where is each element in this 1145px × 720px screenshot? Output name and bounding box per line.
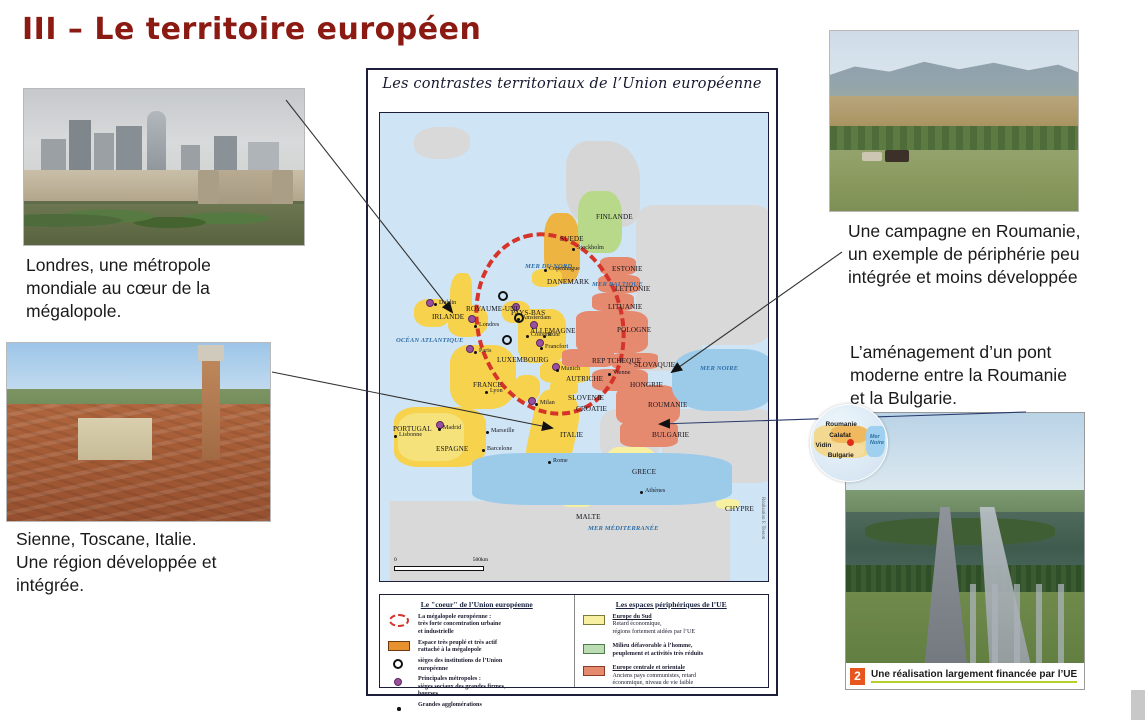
legend-item: La mégalopole européenne : très forte co… bbox=[386, 614, 568, 636]
map-city-dot bbox=[543, 335, 546, 338]
map-city-label: Munich bbox=[561, 366, 580, 372]
caption-london: Londres, une métropole mondiale au cœur … bbox=[26, 254, 326, 322]
river-island bbox=[865, 518, 1055, 546]
caption-pont: L’aménagement d’un pont moderne entre la… bbox=[850, 341, 1140, 409]
legend-item: sièges des institutions de l’Union europ… bbox=[386, 658, 568, 673]
map-title: Les contrastes territoriaux de l’Union e… bbox=[368, 76, 776, 92]
gherkin-tower bbox=[147, 111, 166, 173]
institution-bruxelles bbox=[498, 291, 508, 301]
horse-light bbox=[862, 152, 882, 161]
map-country-label: FINLANDE bbox=[596, 213, 633, 221]
page-title: III – Le territoire européen bbox=[22, 12, 481, 47]
iceland-shape bbox=[414, 127, 470, 159]
label-mer-noire: Mer Noire bbox=[870, 434, 884, 446]
map-city-label: Athènes bbox=[645, 488, 665, 494]
label-bulgarie: Bulgarie bbox=[828, 452, 854, 459]
map-country-label: BULGARIE bbox=[652, 431, 689, 439]
map-city-label: Paris bbox=[479, 348, 492, 354]
palazzo-pubblico bbox=[78, 418, 152, 461]
map-country-label: DANEMARK bbox=[547, 278, 589, 286]
map-credit: Réalisation F. Tesson bbox=[760, 497, 765, 539]
map-city-dot bbox=[517, 318, 520, 321]
metropole-francfort bbox=[536, 339, 544, 347]
photo-sienne-content bbox=[7, 343, 270, 521]
map-country-label: ESTONIE bbox=[612, 265, 643, 273]
inset-globe-map: Roumanie Calafat Vidin Bulgarie Mer Noir… bbox=[810, 404, 888, 482]
mediterranee-water bbox=[472, 453, 732, 505]
crop-field bbox=[830, 96, 1078, 128]
yellow-box-symbol-icon bbox=[581, 614, 607, 627]
map-city-label: Marseille bbox=[491, 428, 515, 434]
legend-item: Milieu défavorable à l’homme, peuplement… bbox=[581, 643, 763, 658]
map-city-dot bbox=[548, 461, 551, 464]
map-country-label: POLOGNE bbox=[617, 326, 651, 334]
legend-text: Espace très peuplé et très actif rattach… bbox=[418, 640, 497, 655]
legend-item: Principales métropoles : sièges sociaux … bbox=[386, 676, 568, 698]
map-city-dot bbox=[474, 325, 477, 328]
map-city-label: Ruhr bbox=[548, 332, 560, 338]
legend-heading-coeur: Le "coeur" de l’Union européenne bbox=[386, 600, 568, 609]
legend-text: Retard économique, régions fortement aid… bbox=[613, 621, 696, 636]
legend-item: Espace très peuplé et très actif rattach… bbox=[386, 640, 568, 655]
legend-column-coeur: Le "coeur" de l’Union européenne La méga… bbox=[380, 595, 575, 687]
legend-column-peripheries: Les espaces périphériques de l’UE Europe… bbox=[575, 595, 769, 687]
map-city-label: Rome bbox=[553, 458, 568, 464]
map-city-label: Vienne bbox=[613, 370, 631, 376]
map-city-label: Milan bbox=[540, 400, 555, 406]
legend-title: Europe centrale et orientale bbox=[613, 665, 697, 672]
caption-roumanie: Une campagne en Roumanie, un exemple de … bbox=[848, 220, 1138, 288]
shape-finlande bbox=[578, 191, 622, 253]
map-country-label: CROATIE bbox=[576, 405, 607, 413]
map-city-label: Stockholm bbox=[577, 245, 604, 251]
horse-dark bbox=[885, 150, 910, 163]
slide-root: III – Le territoire européen Londres, un… bbox=[0, 0, 1145, 720]
red-box-symbol-icon bbox=[581, 665, 607, 678]
legend-text: Anciens pays communistes, retard économi… bbox=[613, 673, 697, 688]
map-city-label: Madrid bbox=[443, 425, 461, 431]
map-city-dot bbox=[540, 347, 543, 350]
legend-item: Europe du Sud Retard économique, régions… bbox=[581, 614, 763, 636]
legend-text: Milieu défavorable à l’homme, peuplement… bbox=[613, 643, 704, 658]
photo-caption-banner: 2 Une réalisation largement financée par… bbox=[846, 663, 1084, 689]
scale-end: 500km bbox=[473, 557, 488, 563]
map-country-label: ITALIE bbox=[560, 431, 583, 439]
map-city-dot bbox=[608, 373, 611, 376]
label-roumanie: Roumanie bbox=[825, 421, 856, 428]
legend-entry: Europe centrale et orientale Anciens pay… bbox=[613, 665, 697, 687]
map-country-label: SUEDE bbox=[560, 235, 584, 243]
map-city-dot bbox=[544, 269, 547, 272]
metropole-londres bbox=[468, 315, 476, 323]
map-sea-label: MER NOIRE bbox=[700, 365, 738, 373]
map-country-label: GRECE bbox=[632, 468, 656, 476]
figure-caption: Une réalisation largement financée par l… bbox=[871, 669, 1077, 683]
photo-roumanie-content bbox=[830, 31, 1078, 211]
figure-number: 2 bbox=[850, 668, 865, 685]
map-city-dot bbox=[526, 335, 529, 338]
map-city-dot bbox=[535, 403, 538, 406]
map-city-label: Copenhague bbox=[549, 266, 580, 272]
map-city-label: Lisbonne bbox=[399, 432, 422, 438]
scale-start: 0 bbox=[394, 557, 397, 563]
legend-title: Europe du Sud bbox=[613, 614, 696, 621]
tower-top bbox=[198, 345, 224, 361]
map-country-label: LUXEMBOURG bbox=[497, 356, 549, 364]
map-city-dot bbox=[474, 351, 477, 354]
map-country-label: LETTONIE bbox=[615, 285, 650, 293]
map-city-dot bbox=[482, 449, 485, 452]
green-box-symbol-icon bbox=[581, 643, 607, 656]
bridge-piers bbox=[970, 584, 1065, 672]
institution-strasbourg bbox=[502, 335, 512, 345]
torre-del-mangia bbox=[202, 350, 220, 460]
scale-bar-line bbox=[394, 566, 484, 571]
label-calafat: Calafat bbox=[829, 432, 851, 439]
map-country-label: HONGRIE bbox=[630, 381, 663, 389]
map-country-label: CHYPRE bbox=[725, 505, 754, 513]
small-dot-symbol-icon bbox=[386, 702, 412, 715]
map-country-label: MALTE bbox=[576, 513, 601, 521]
photo-london bbox=[23, 88, 305, 246]
map-country-label: SLOVENIE bbox=[568, 394, 604, 402]
metropole-dublin bbox=[426, 299, 434, 307]
legend-heading-peripheries: Les espaces périphériques de l’UE bbox=[581, 600, 763, 609]
map-country-label: SLOVAQUIE bbox=[634, 361, 675, 369]
map-country-label: AUTRICHE bbox=[566, 375, 603, 383]
legend-entry: Europe du Sud Retard économique, régions… bbox=[613, 614, 696, 636]
trees bbox=[24, 204, 304, 245]
map-city-dot bbox=[486, 431, 489, 434]
legend-text: sièges des institutions de l’Union europ… bbox=[418, 658, 502, 673]
photo-roumanie bbox=[829, 30, 1079, 212]
purple-dot-symbol-icon bbox=[386, 676, 412, 689]
location-pin bbox=[847, 439, 854, 446]
map-scale-bar: 0 500km bbox=[394, 566, 484, 571]
map-city-label: Barcelone bbox=[487, 446, 512, 452]
map-city-dot bbox=[556, 369, 559, 372]
map-country-label: LITUANIE bbox=[608, 303, 642, 311]
map-country-label: IRLANDE bbox=[432, 313, 464, 321]
map-city-dot bbox=[640, 491, 643, 494]
photo-london-content bbox=[24, 89, 304, 245]
map-country-label: ROUMANIE bbox=[648, 401, 688, 409]
far-shore bbox=[846, 490, 1084, 512]
megalopole-symbol-icon bbox=[386, 614, 412, 627]
map-city-label: Lyon bbox=[490, 388, 503, 394]
map-panel: Les contrastes territoriaux de l’Union e… bbox=[366, 68, 778, 696]
open-circle-symbol-icon bbox=[386, 658, 412, 671]
map-city-label: Amsterdam bbox=[522, 315, 551, 321]
map-city-label: Francfort bbox=[545, 344, 568, 350]
orange-box-symbol-icon bbox=[386, 640, 412, 653]
legend-item: Europe centrale et orientale Anciens pay… bbox=[581, 665, 763, 687]
map-city-label: Dublin bbox=[439, 300, 456, 306]
map-city-dot bbox=[485, 391, 488, 394]
legend-text: Grandes agglomérations bbox=[418, 702, 482, 709]
legend-item: Grandes agglomérations bbox=[386, 702, 568, 715]
legend-text: Principales métropoles : sièges sociaux … bbox=[418, 676, 506, 698]
map-city-dot bbox=[572, 248, 575, 251]
map-legend: Le "coeur" de l’Union européenne La méga… bbox=[379, 594, 769, 688]
map-city-dot bbox=[394, 435, 397, 438]
hedgerow bbox=[830, 126, 1078, 151]
caption-sienne: Sienne, Toscane, Italie. Une région déve… bbox=[16, 528, 316, 596]
map-sea-label: OCÉAN ATLANTIQUE bbox=[396, 337, 464, 345]
corner-marker bbox=[1131, 690, 1145, 720]
map-sea-label: MER MÉDITERRANÉE bbox=[588, 525, 659, 533]
label-vidin: Vidin bbox=[816, 442, 832, 449]
metropole-paris bbox=[466, 345, 474, 353]
photo-sienne bbox=[6, 342, 271, 522]
map-city-label: Londres bbox=[479, 322, 499, 328]
map-city-dot bbox=[434, 303, 437, 306]
map-country-label: ESPAGNE bbox=[436, 445, 468, 453]
map-city-dot bbox=[438, 428, 441, 431]
legend-text: La mégalopole européenne : très forte co… bbox=[418, 614, 501, 636]
map-canvas: OCÉAN ATLANTIQUEMER DU NORDMER BALTIQUEM… bbox=[379, 112, 769, 582]
